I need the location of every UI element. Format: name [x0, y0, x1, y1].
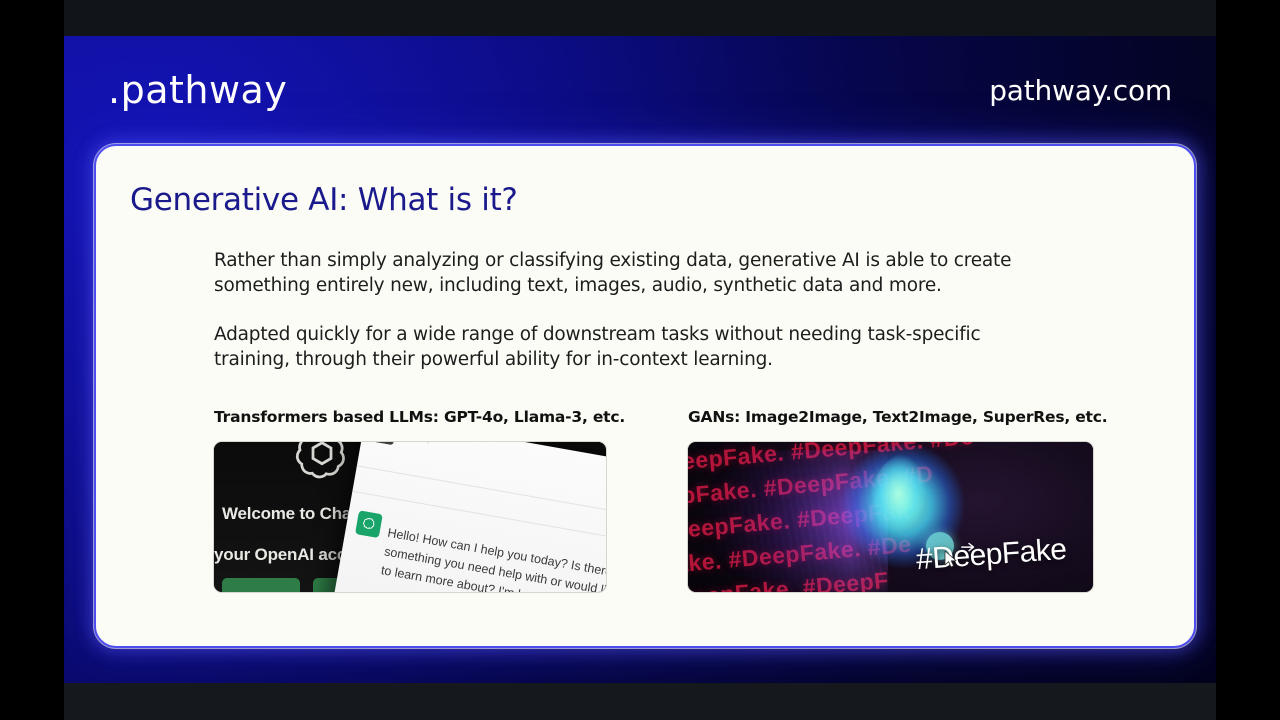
openai-logo-icon: [292, 442, 352, 486]
video-viewer: .pathway pathway.com Generative AI: What…: [0, 0, 1280, 720]
example-column-llms: Transformers based LLMs: GPT-4o, Llama-3…: [214, 408, 618, 592]
slide-title: Generative AI: What is it?: [130, 182, 1160, 218]
pathway-logo: .pathway: [108, 71, 287, 109]
slide-header: .pathway pathway.com: [64, 36, 1216, 144]
example-caption-llms: Transformers based LLMs: GPT-4o, Llama-3…: [214, 408, 618, 426]
chatgpt-thumbnail: Welcome to ChatGPT your OpenAI accoun' L…: [214, 442, 606, 592]
pathway-website-url: pathway.com: [989, 74, 1172, 107]
letterbox-bottom: [64, 683, 1216, 720]
panel-divider: [357, 465, 606, 518]
user-message-text: Hi: [418, 442, 432, 445]
slide-body: Rather than simply analyzing or classify…: [214, 248, 1160, 372]
presentation-slide: .pathway pathway.com Generative AI: What…: [64, 36, 1216, 683]
examples-row: Transformers based LLMs: GPT-4o, Llama-3…: [214, 408, 1160, 592]
user-avatar: SE: [371, 442, 396, 445]
deepfake-thumbnail: #DeepFake. #DeepFake. #De eepFake. #Deep…: [688, 442, 1093, 592]
letterbox-top: [64, 0, 1216, 36]
example-caption-gans: GANs: Image2Image, Text2Image, SuperRes,…: [688, 408, 1092, 426]
letterbox-right: [1216, 0, 1280, 720]
body-paragraph-2: Adapted quickly for a wide range of down…: [214, 322, 1044, 372]
assistant-message-text: Hello! How can I help you today? Is ther…: [379, 524, 606, 592]
body-paragraph-1: Rather than simply analyzing or classify…: [214, 248, 1044, 298]
letterbox-left: [0, 0, 64, 720]
pathway-logo-text: .pathway: [108, 71, 287, 109]
chatgpt-login-button[interactable]: Log in: [222, 578, 300, 592]
slide-content-card: Generative AI: What is it? Rather than s…: [94, 144, 1196, 648]
chatgpt-avatar-icon: [355, 510, 383, 538]
chatgpt-conversation-panel: SE Hi Hello! How can I help you today? I…: [326, 442, 606, 592]
openai-mark-small-icon: [360, 515, 379, 534]
example-column-gans: GANs: Image2Image, Text2Image, SuperRes,…: [688, 408, 1092, 592]
